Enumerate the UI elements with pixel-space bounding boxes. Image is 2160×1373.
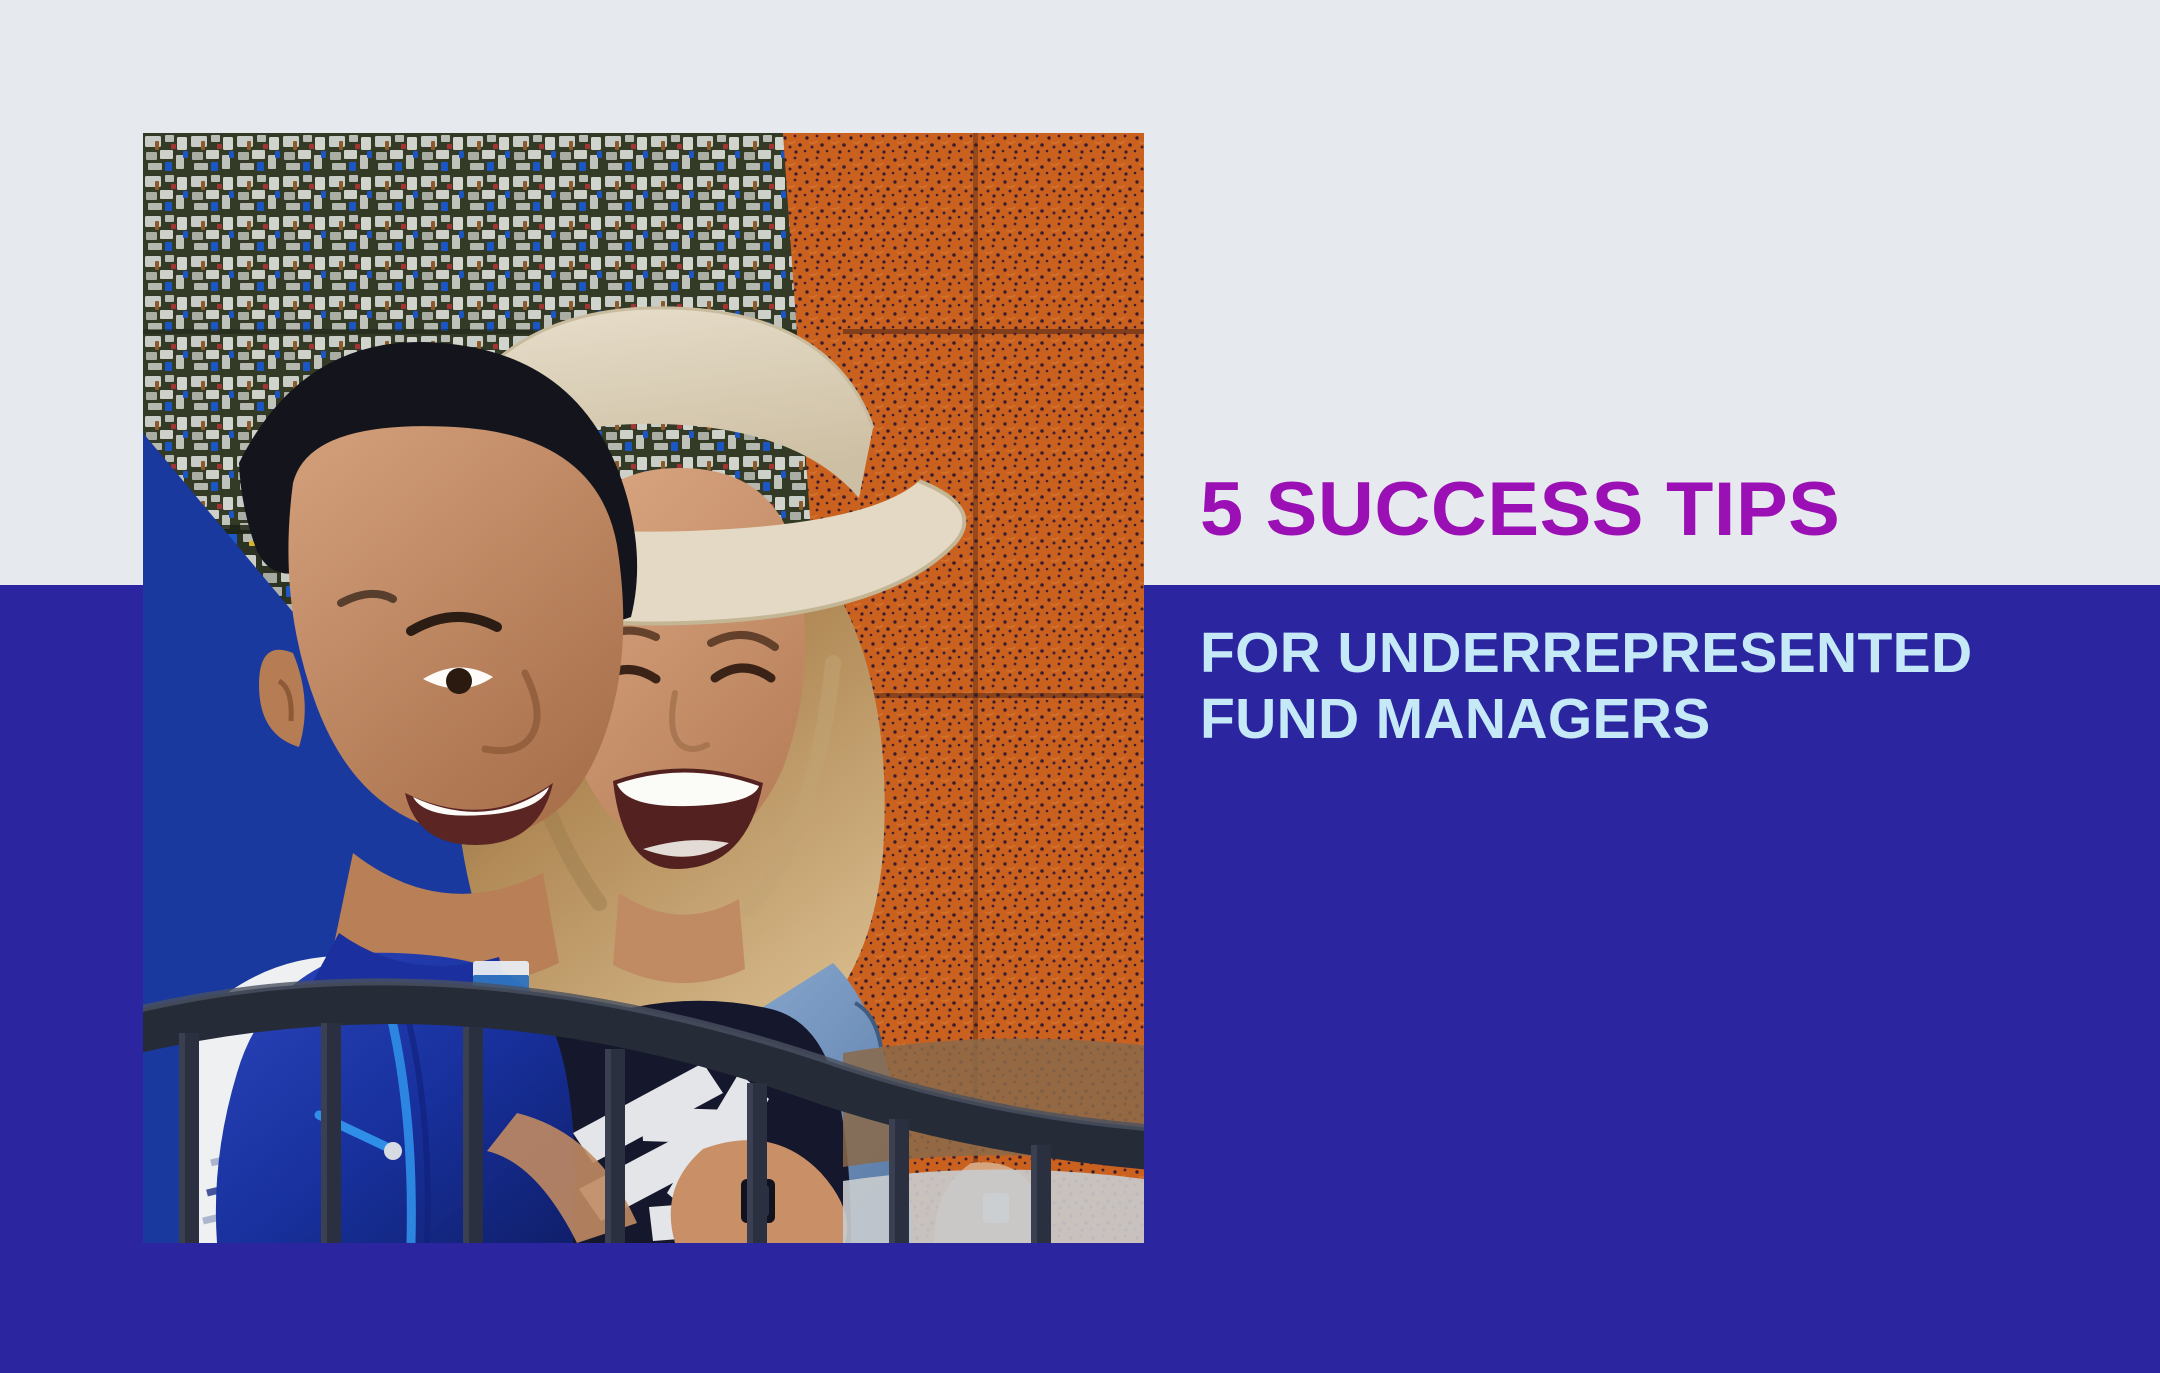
subhead-line-2: FUND MANAGERS (1200, 686, 1972, 752)
subhead-line-1: FOR UNDERREPRESENTED (1200, 620, 1972, 686)
poster-canvas: 5 SUCCESS TIPS FOR UNDERREPRESENTED FUND… (0, 0, 2160, 1373)
subhead: FOR UNDERREPRESENTED FUND MANAGERS (1200, 620, 1972, 752)
hero-photo-illustration (143, 133, 1144, 1243)
headline: 5 SUCCESS TIPS (1200, 472, 1840, 548)
hero-photo (143, 133, 1144, 1243)
